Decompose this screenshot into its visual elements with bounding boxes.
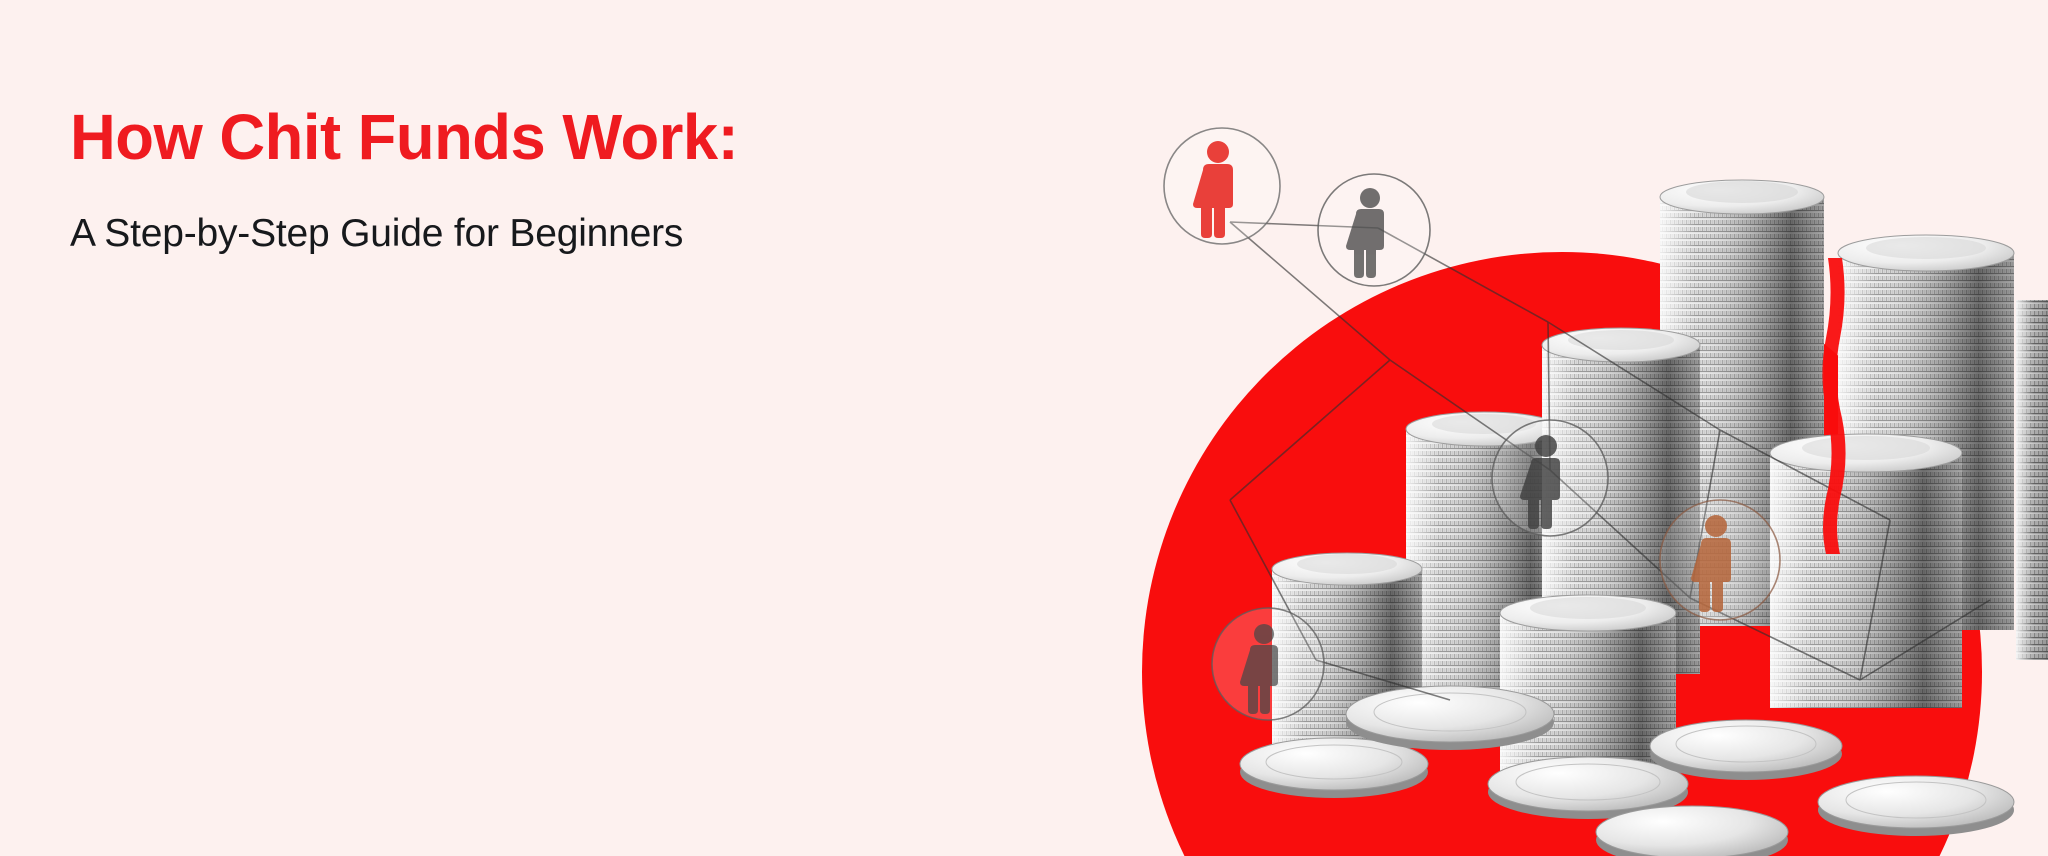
hero-illustration	[930, 0, 2048, 856]
loose-coin-1	[1240, 738, 1428, 798]
page-subtitle: A Step-by-Step Guide for Beginners	[70, 212, 970, 257]
page-title: How Chit Funds Work:	[70, 104, 961, 172]
loose-coin-6	[1818, 776, 2014, 836]
member-icon-badge-gray-bottom	[1212, 608, 1324, 720]
loose-coin-2	[1346, 686, 1554, 750]
loose-coin-5	[1596, 806, 1788, 856]
loose-coin-4	[1650, 720, 1842, 780]
member-icon-badge-orange	[1660, 500, 1780, 620]
hero-banner: How Chit Funds Work: A Step-by-Step Guid…	[0, 0, 2048, 856]
member-icon-badge-gray-right	[1492, 420, 1608, 536]
member-icon-badge-gray-mid	[1318, 174, 1430, 286]
coin-stack-edge-right	[2016, 300, 2048, 660]
coin-stack-mid-right	[1770, 434, 1962, 708]
hero-text-block: How Chit Funds Work: A Step-by-Step Guid…	[70, 104, 970, 257]
member-icon-badge-red	[1164, 128, 1280, 244]
